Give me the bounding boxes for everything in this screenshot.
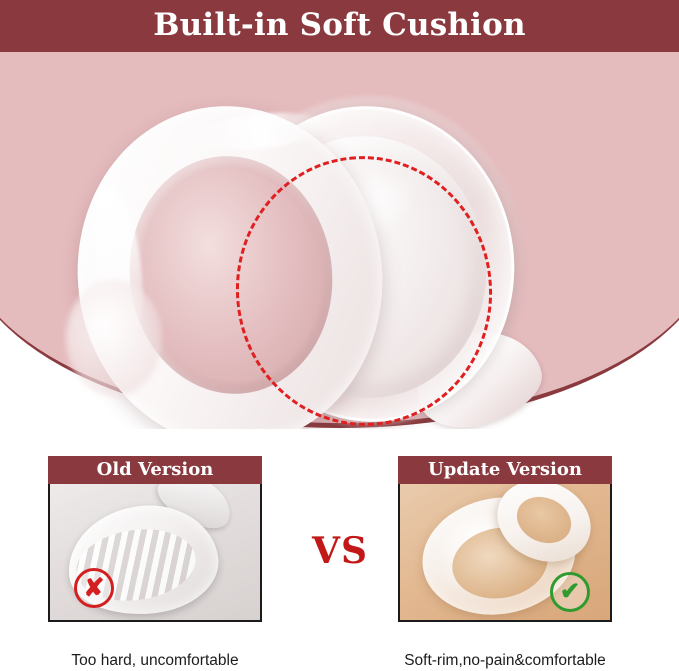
old-version-panel: Old Version ✘ <box>48 456 262 622</box>
vs-label: VS <box>292 530 388 572</box>
update-version-panel: Update Version ✔ <box>398 456 612 622</box>
update-version-caption: Soft-rim,no-pain&comfortable <box>365 652 645 670</box>
product-infographic: Built-in Soft Cushion Old Version ✘ Upda… <box>0 0 679 671</box>
product-photo <box>0 44 679 429</box>
cushion-ring-base-blur <box>66 280 162 396</box>
old-version-label: Old Version <box>48 456 262 484</box>
green-check-icon: ✔ <box>550 572 590 612</box>
comparison-section: Old Version ✘ Update Version ✔ VS Too ha… <box>0 434 679 671</box>
red-cross-icon: ✘ <box>74 568 114 608</box>
page-title: Built-in Soft Cushion <box>0 0 679 52</box>
old-version-caption: Too hard, uncomfortable <box>15 652 295 670</box>
hero-image-area <box>0 44 679 429</box>
old-version-photo: ✘ <box>48 470 262 622</box>
update-version-label: Update Version <box>398 456 612 484</box>
banner: Built-in Soft Cushion <box>0 0 679 52</box>
update-version-photo: ✔ <box>398 470 612 622</box>
